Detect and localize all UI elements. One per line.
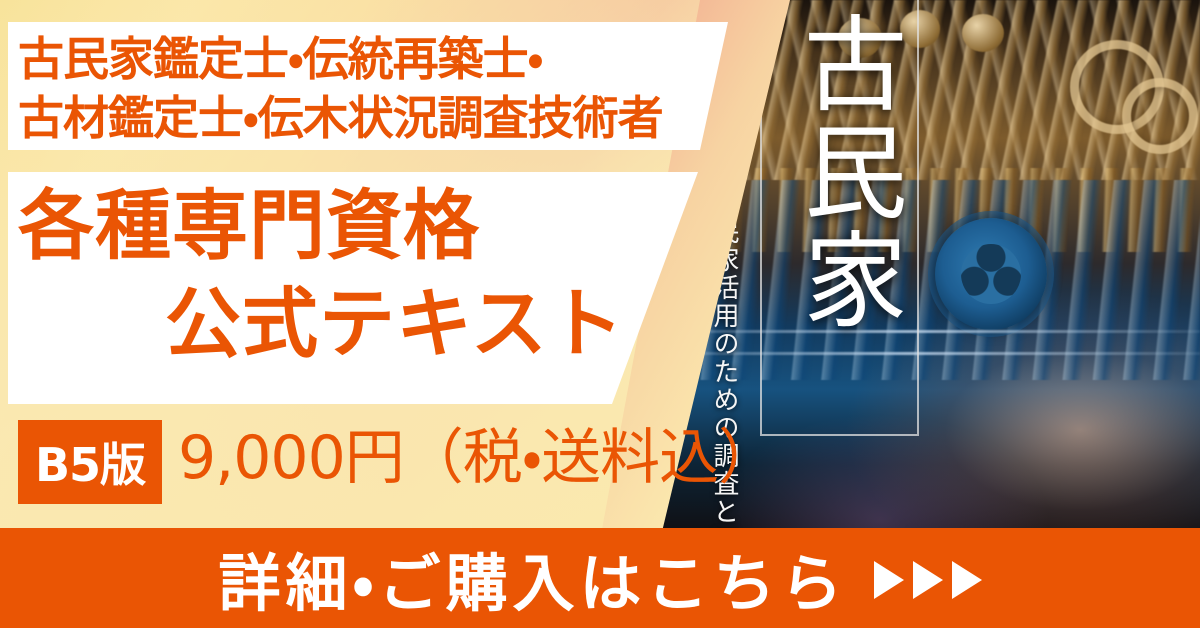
triangle-right-icon (952, 561, 982, 599)
qualifications-line-1: 古民家鑑定士・伝統再築士・ (18, 30, 718, 89)
cta-label: 詳細・ご購入はこちら (218, 533, 847, 623)
promotional-banner: 古民家 伝統構法 古民家活用のための調査と再生の 古民家鑑定士・伝統再築士・ 古… (0, 0, 1200, 628)
cta-button[interactable]: 詳細・ご購入はこちら (0, 528, 1200, 628)
triangle-right-icon (913, 561, 943, 599)
qualifications-text: 古民家鑑定士・伝統再築士・ 古材鑑定士・伝木状況調査技術者 (18, 30, 718, 148)
cta-arrow-group (874, 561, 982, 599)
headline-line-2: 公式テキスト (165, 286, 625, 362)
family-crest-icon (935, 218, 1047, 330)
qualifications-line-2: 古材鑑定士・伝木状況調査技術者 (18, 89, 718, 148)
format-badge: B5版 (18, 420, 162, 504)
carving-scroll (1122, 78, 1198, 154)
cover-title: 古民家 (772, 10, 902, 334)
price-text: 9,000円（税・送料込） (178, 428, 777, 488)
carving-detail (962, 14, 1004, 52)
triangle-right-icon (874, 561, 904, 599)
headline-line-1: 各種専門資格 (18, 188, 480, 264)
